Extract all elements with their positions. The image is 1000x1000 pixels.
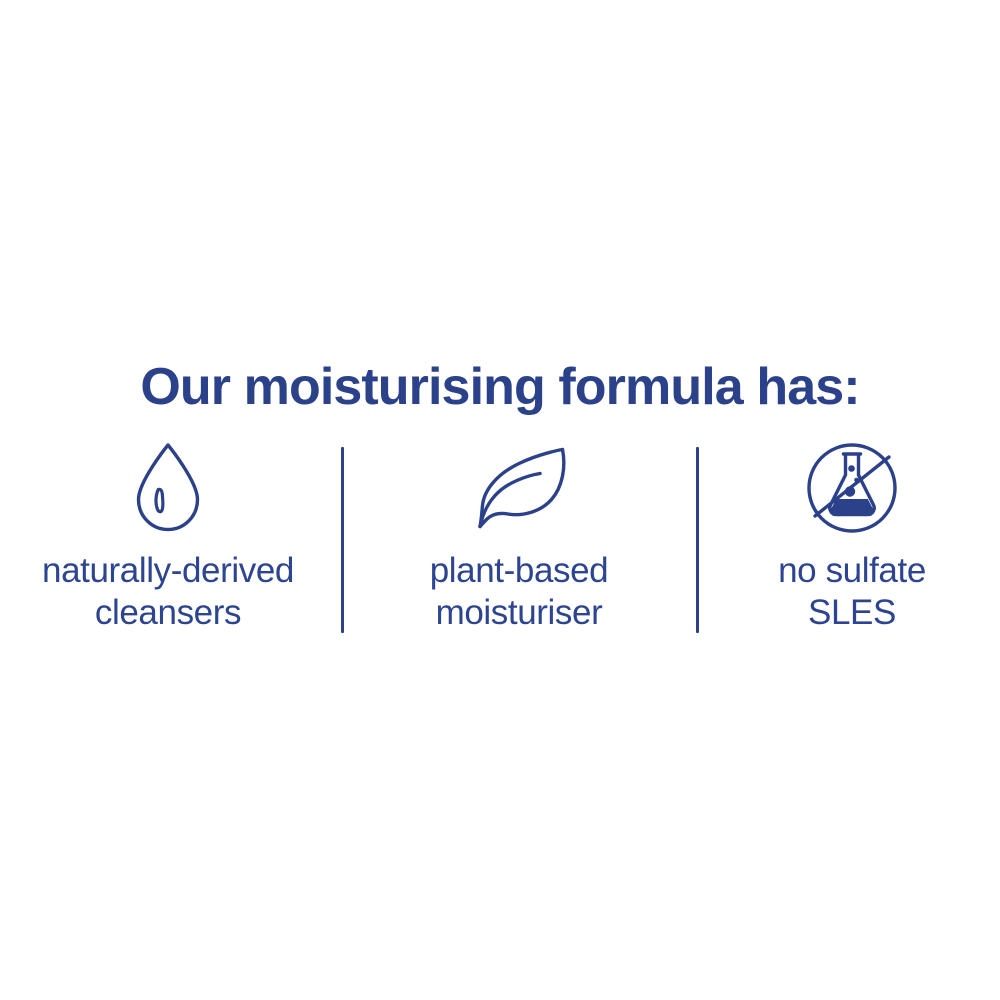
feature-label: naturally-derived cleansers: [42, 550, 294, 634]
feature-label: plant-based moisturiser: [430, 550, 609, 634]
feature-label-line-1: plant-based: [430, 551, 609, 590]
feature-label: no sulfate SLES: [778, 550, 926, 634]
page-title: Our moisturising formula has:: [0, 358, 1000, 416]
feature-label-line-2: SLES: [808, 593, 896, 632]
bubble-small-upper: [848, 465, 855, 472]
divider-2: [696, 447, 699, 633]
divider-1: [341, 447, 344, 633]
feature-label-line-1: naturally-derived: [42, 551, 294, 590]
infographic-panel: Our moisturising formula has: naturally-…: [0, 0, 1000, 1000]
feature-label-line-2: moisturiser: [436, 593, 603, 632]
feature-item-plant-based-moisturiser: plant-based moisturiser: [354, 440, 684, 634]
water-droplet-icon: [134, 440, 202, 536]
feature-label-line-1: no sulfate: [778, 551, 926, 590]
no-sulfate-flask-icon: [803, 440, 901, 536]
feature-label-line-2: cleansers: [95, 593, 241, 632]
feature-item-naturally-derived-cleansers: naturally-derived cleansers: [3, 440, 333, 634]
feature-item-no-sulfate-sles: no sulfate SLES: [707, 440, 997, 634]
feature-list: naturally-derived cleansers plant-based …: [0, 440, 1000, 640]
leaf-icon: [467, 440, 571, 536]
